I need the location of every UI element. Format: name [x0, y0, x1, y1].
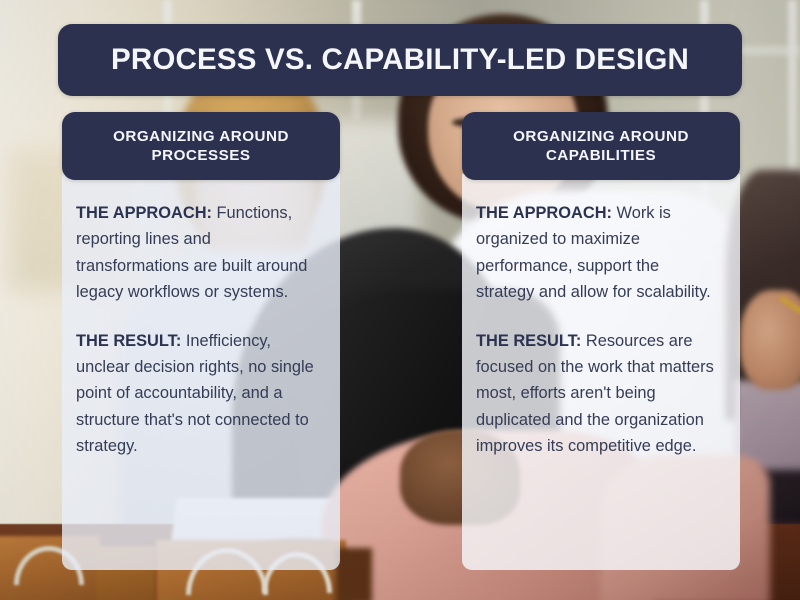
paragraph-approach-left: THE APPROACH: Functions, reporting lines…	[76, 200, 320, 306]
column-processes: ORGANIZING AROUND PROCESSES THE APPROACH…	[62, 112, 340, 570]
column-capabilities: ORGANIZING AROUND CAPABILITIES THE APPRO…	[462, 112, 740, 570]
infographic-canvas: PROCESS VS. CAPABILITY-LED DESIGN ORGANI…	[0, 0, 800, 600]
approach-label-right: THE APPROACH:	[476, 204, 612, 222]
page-title: PROCESS VS. CAPABILITY-LED DESIGN	[95, 43, 705, 76]
paragraph-result-right: THE RESULT: Resources are focused on the…	[476, 328, 720, 460]
column-body-capabilities: THE APPROACH: Work is organized to maxim…	[462, 174, 740, 570]
result-text-left: Inefficiency, unclear decision rights, n…	[76, 332, 314, 456]
paragraph-result-left: THE RESULT: Inefficiency, unclear decisi…	[76, 328, 320, 460]
title-banner: PROCESS VS. CAPABILITY-LED DESIGN	[58, 24, 742, 96]
column-header-processes-label: ORGANIZING AROUND PROCESSES	[62, 127, 340, 166]
result-text-right: Resources are focused on the work that m…	[476, 332, 714, 456]
result-label-left: THE RESULT:	[76, 332, 181, 350]
column-body-processes: THE APPROACH: Functions, reporting lines…	[62, 174, 340, 570]
column-header-capabilities-label: ORGANIZING AROUND CAPABILITIES	[462, 127, 740, 166]
result-label-right: THE RESULT:	[476, 332, 581, 350]
column-header-processes: ORGANIZING AROUND PROCESSES	[62, 112, 340, 180]
paragraph-approach-right: THE APPROACH: Work is organized to maxim…	[476, 200, 720, 306]
column-header-capabilities: ORGANIZING AROUND CAPABILITIES	[462, 112, 740, 180]
approach-label-left: THE APPROACH:	[76, 204, 212, 222]
